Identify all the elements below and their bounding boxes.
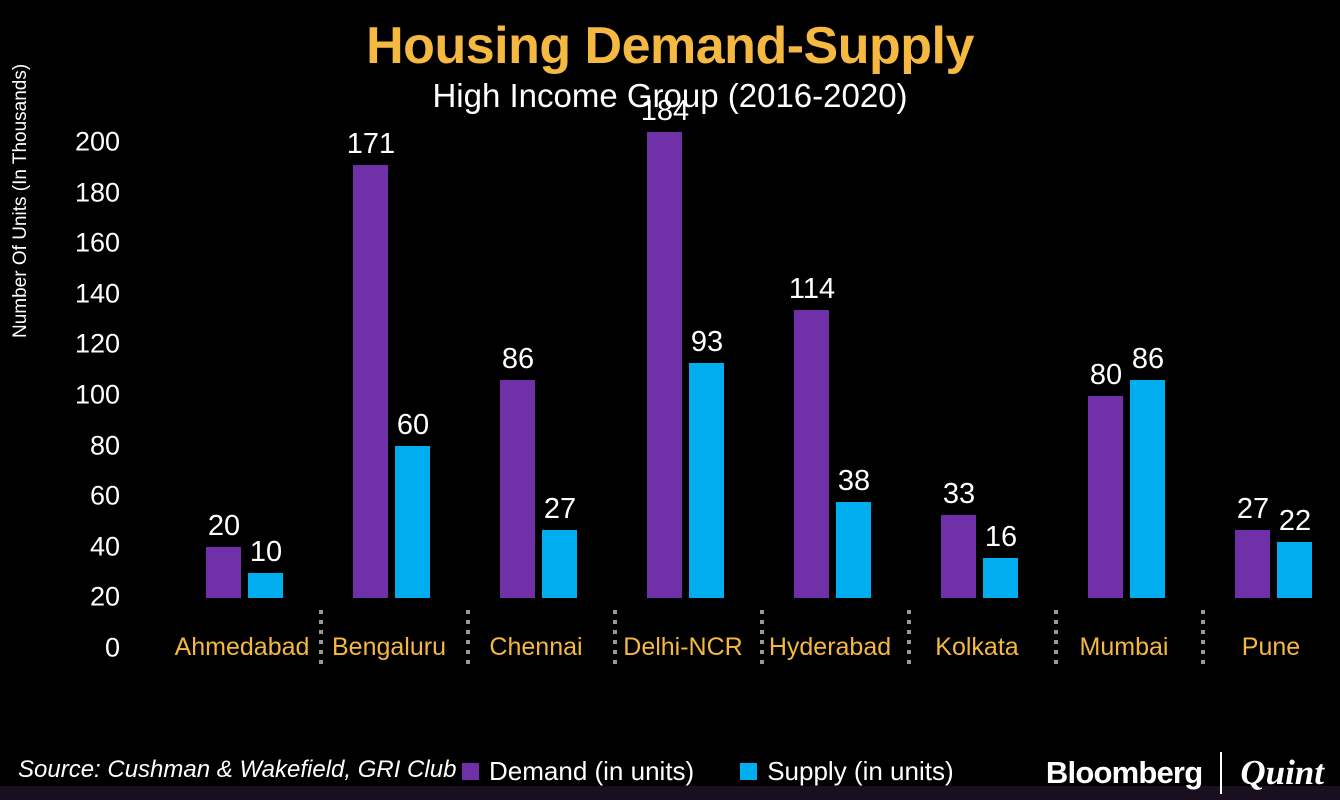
legend-item-supply[interactable]: Supply (in units)	[740, 756, 953, 787]
bar-value-label: 86	[1103, 345, 1193, 374]
chart-plot-region: Number Of Units (In Thousands) 200180160…	[0, 128, 1340, 718]
bars-wrapper: 8086	[1064, 92, 1209, 598]
bar-supply[interactable]	[689, 363, 724, 598]
bars-wrapper: 11438	[770, 92, 915, 598]
y-axis-tick-label: 20	[46, 584, 120, 611]
bar-group: 8627Chennai	[476, 92, 621, 598]
bar-supply[interactable]	[248, 573, 283, 598]
y-axis-tick-label: 200	[46, 129, 120, 156]
legend-swatch-supply-icon	[740, 763, 757, 780]
x-axis-category-label: Hyderabad	[745, 633, 915, 662]
y-axis-tick-label: 0	[46, 635, 120, 662]
chart-legend: Demand (in units) Supply (in units)	[462, 756, 954, 787]
bars-wrapper: 2010	[182, 92, 327, 598]
x-axis-category-label: Bengaluru	[304, 633, 474, 662]
bar-supply[interactable]	[542, 530, 577, 598]
bar-demand[interactable]	[1088, 396, 1123, 598]
brand-quint-wordmark: Quint	[1240, 753, 1324, 793]
y-axis-tick-label: 80	[46, 432, 120, 459]
x-axis-category-label: Kolkata	[892, 633, 1062, 662]
y-axis-tick-label: 40	[46, 533, 120, 560]
bar-value-label: 171	[326, 130, 416, 159]
bar-demand[interactable]	[500, 380, 535, 598]
bar-demand[interactable]	[353, 165, 388, 598]
bar-value-label: 86	[473, 345, 563, 374]
chart-footer: Source: Cushman & Wakefield, GRI Club De…	[0, 730, 1340, 800]
bar-group: 2722Pune	[1211, 92, 1340, 598]
bar-supply[interactable]	[395, 446, 430, 598]
bar-value-label: 16	[956, 523, 1046, 552]
bar-supply[interactable]	[1130, 380, 1165, 598]
bar-supply[interactable]	[1277, 542, 1312, 598]
legend-swatch-demand-icon	[462, 763, 479, 780]
bar-value-label: 22	[1250, 507, 1340, 536]
brand-bloomberg-wordmark: Bloomberg	[1046, 755, 1202, 791]
bar-value-label: 60	[368, 411, 458, 440]
x-axis-category-label: Delhi-NCR	[598, 633, 768, 662]
y-axis-tick-label: 120	[46, 331, 120, 358]
bar-value-label: 184	[620, 97, 710, 126]
bar-group: 2010Ahmedabad	[182, 92, 327, 598]
bar-value-label: 10	[221, 538, 311, 567]
bar-value-label: 93	[662, 328, 752, 357]
y-axis-tick-label: 60	[46, 483, 120, 510]
page-title: Housing Demand-Supply	[0, 16, 1340, 76]
bar-group: 17160Bengaluru	[329, 92, 474, 598]
legend-label-supply: Supply (in units)	[767, 756, 953, 787]
bar-supply[interactable]	[836, 502, 871, 598]
bar-demand[interactable]	[647, 132, 682, 598]
bar-value-label: 27	[515, 495, 605, 524]
y-axis-ticks: 200180160140120100806040200	[46, 128, 120, 658]
source-credit: Source: Cushman & Wakefield, GRI Club	[18, 756, 456, 784]
x-axis-category-label: Mumbai	[1039, 633, 1209, 662]
plot-area: 2010Ahmedabad17160Bengaluru8627Chennai18…	[130, 128, 1330, 668]
bars-wrapper: 8627	[476, 92, 621, 598]
bar-group: 3316Kolkata	[917, 92, 1062, 598]
y-axis-tick-label: 180	[46, 179, 120, 206]
bar-value-label: 114	[767, 275, 857, 304]
y-axis-title: Number Of Units (In Thousands)	[10, 308, 32, 338]
bar-group: 11438Hyderabad	[770, 92, 915, 598]
brand-logo: Bloomberg Quint	[1046, 752, 1324, 794]
bars-wrapper: 3316	[917, 92, 1062, 598]
x-axis-category-label: Pune	[1186, 633, 1340, 662]
bar-value-label: 33	[914, 480, 1004, 509]
legend-item-demand[interactable]: Demand (in units)	[462, 756, 694, 787]
bars-wrapper: 18493	[623, 92, 768, 598]
x-axis-category-label: Ahmedabad	[157, 633, 327, 662]
bars-wrapper: 2722	[1211, 92, 1340, 598]
bars-wrapper: 17160	[329, 92, 474, 598]
bar-group: 18493Delhi-NCR	[623, 92, 768, 598]
y-axis-tick-label: 100	[46, 382, 120, 409]
bar-supply[interactable]	[983, 558, 1018, 598]
bar-group: 8086Mumbai	[1064, 92, 1209, 598]
brand-divider	[1220, 752, 1222, 794]
bar-demand[interactable]	[794, 310, 829, 598]
legend-label-demand: Demand (in units)	[489, 756, 694, 787]
bar-demand[interactable]	[1235, 530, 1270, 598]
x-axis-category-label: Chennai	[451, 633, 621, 662]
y-axis-tick-label: 140	[46, 280, 120, 307]
y-axis-tick-label: 160	[46, 230, 120, 257]
bar-value-label: 38	[809, 467, 899, 496]
